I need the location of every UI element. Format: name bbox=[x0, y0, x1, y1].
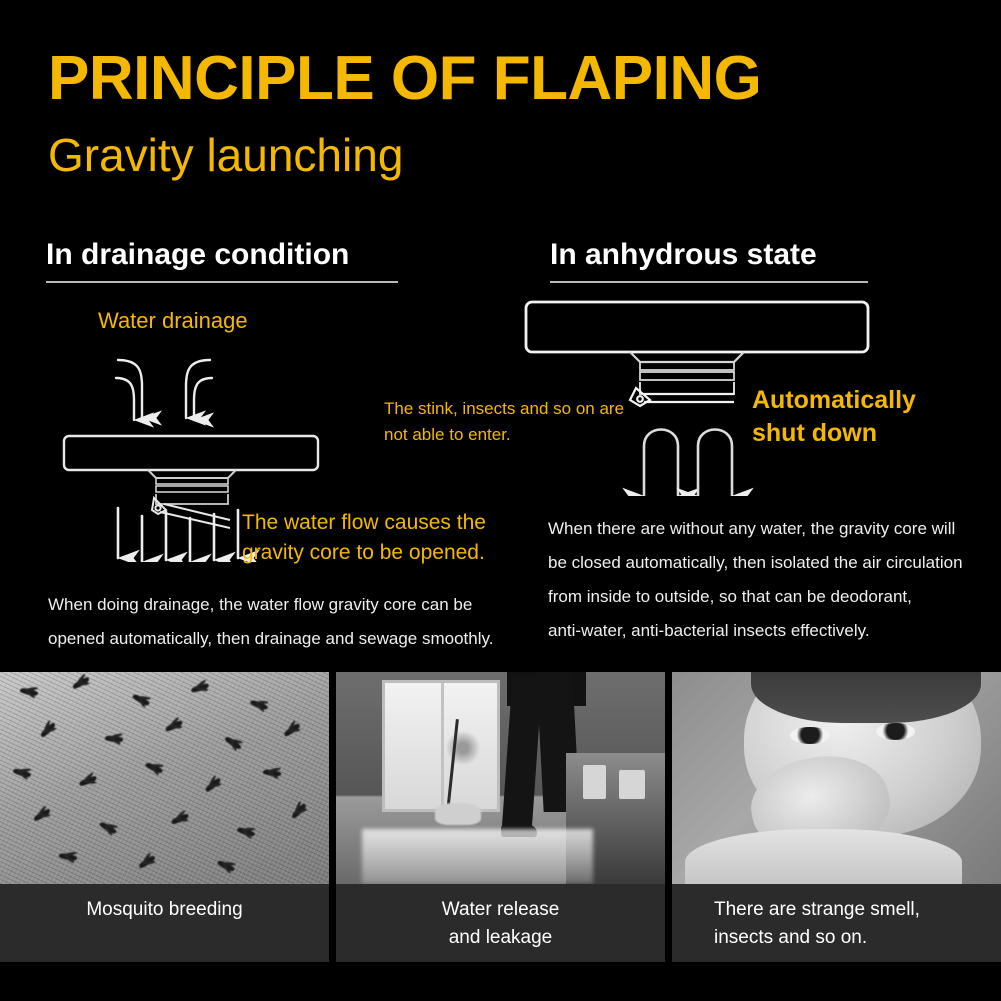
blocked-arrows-group bbox=[644, 430, 732, 497]
paragraph-anhydrous: When there are without any water, the gr… bbox=[548, 512, 988, 648]
photo-card-water-release: Water release and leakage bbox=[336, 672, 665, 962]
drain-body bbox=[526, 302, 868, 394]
section-divider-drainage bbox=[46, 281, 398, 283]
baby-body-shape bbox=[685, 829, 961, 884]
paragraph-drainage: When doing drainage, the water flow grav… bbox=[48, 588, 518, 656]
inflow-arrows-group bbox=[116, 360, 212, 420]
window-shape bbox=[382, 680, 500, 811]
photo-caption-strange-smell: There are strange smell, insects and so … bbox=[672, 884, 1001, 962]
mop-head-shape bbox=[435, 803, 481, 824]
section-header-anhydrous: In anhydrous state bbox=[550, 238, 868, 283]
title-block: PRINCIPLE OF FLAPING Gravity launching bbox=[48, 48, 988, 178]
callout-water-flow: The water flow causes the gravity core t… bbox=[242, 508, 486, 569]
photo-water-release-leakage bbox=[336, 672, 665, 884]
callout-automatically-shut-down: Automatically shut down bbox=[752, 384, 916, 449]
callout-stink-insects: The stink, insects and so on are not abl… bbox=[384, 396, 624, 447]
photo-mosquito-breeding bbox=[0, 672, 329, 884]
plant-shape bbox=[445, 731, 481, 765]
drain-body bbox=[64, 436, 318, 504]
bottle-shape bbox=[619, 770, 645, 800]
photo-card-strange-smell: There are strange smell, insects and so … bbox=[672, 672, 1001, 962]
baby-eye-shape bbox=[790, 727, 829, 744]
section-header-drainage: In drainage condition bbox=[46, 238, 398, 283]
bottle-shape bbox=[583, 765, 606, 799]
photo-caption-mosquito: Mosquito breeding bbox=[0, 884, 329, 962]
gravity-valve-closed bbox=[630, 388, 734, 406]
section-title-anhydrous: In anhydrous state bbox=[550, 238, 868, 271]
baby-eye-shape bbox=[876, 723, 915, 740]
photo-card-mosquito: Mosquito breeding bbox=[0, 672, 329, 962]
photo-baby-pinching-nose bbox=[672, 672, 1001, 884]
photo-strip: Mosquito breeding Water release and leak… bbox=[0, 672, 1001, 962]
photo-caption-water-release: Water release and leakage bbox=[336, 884, 665, 962]
page-title: PRINCIPLE OF FLAPING bbox=[48, 48, 988, 110]
page-subtitle: Gravity launching bbox=[48, 132, 988, 178]
section-divider-anhydrous bbox=[550, 281, 868, 283]
section-title-drainage: In drainage condition bbox=[46, 238, 398, 271]
water-puddle-shape bbox=[362, 829, 592, 884]
label-water-drainage: Water drainage bbox=[98, 308, 248, 334]
